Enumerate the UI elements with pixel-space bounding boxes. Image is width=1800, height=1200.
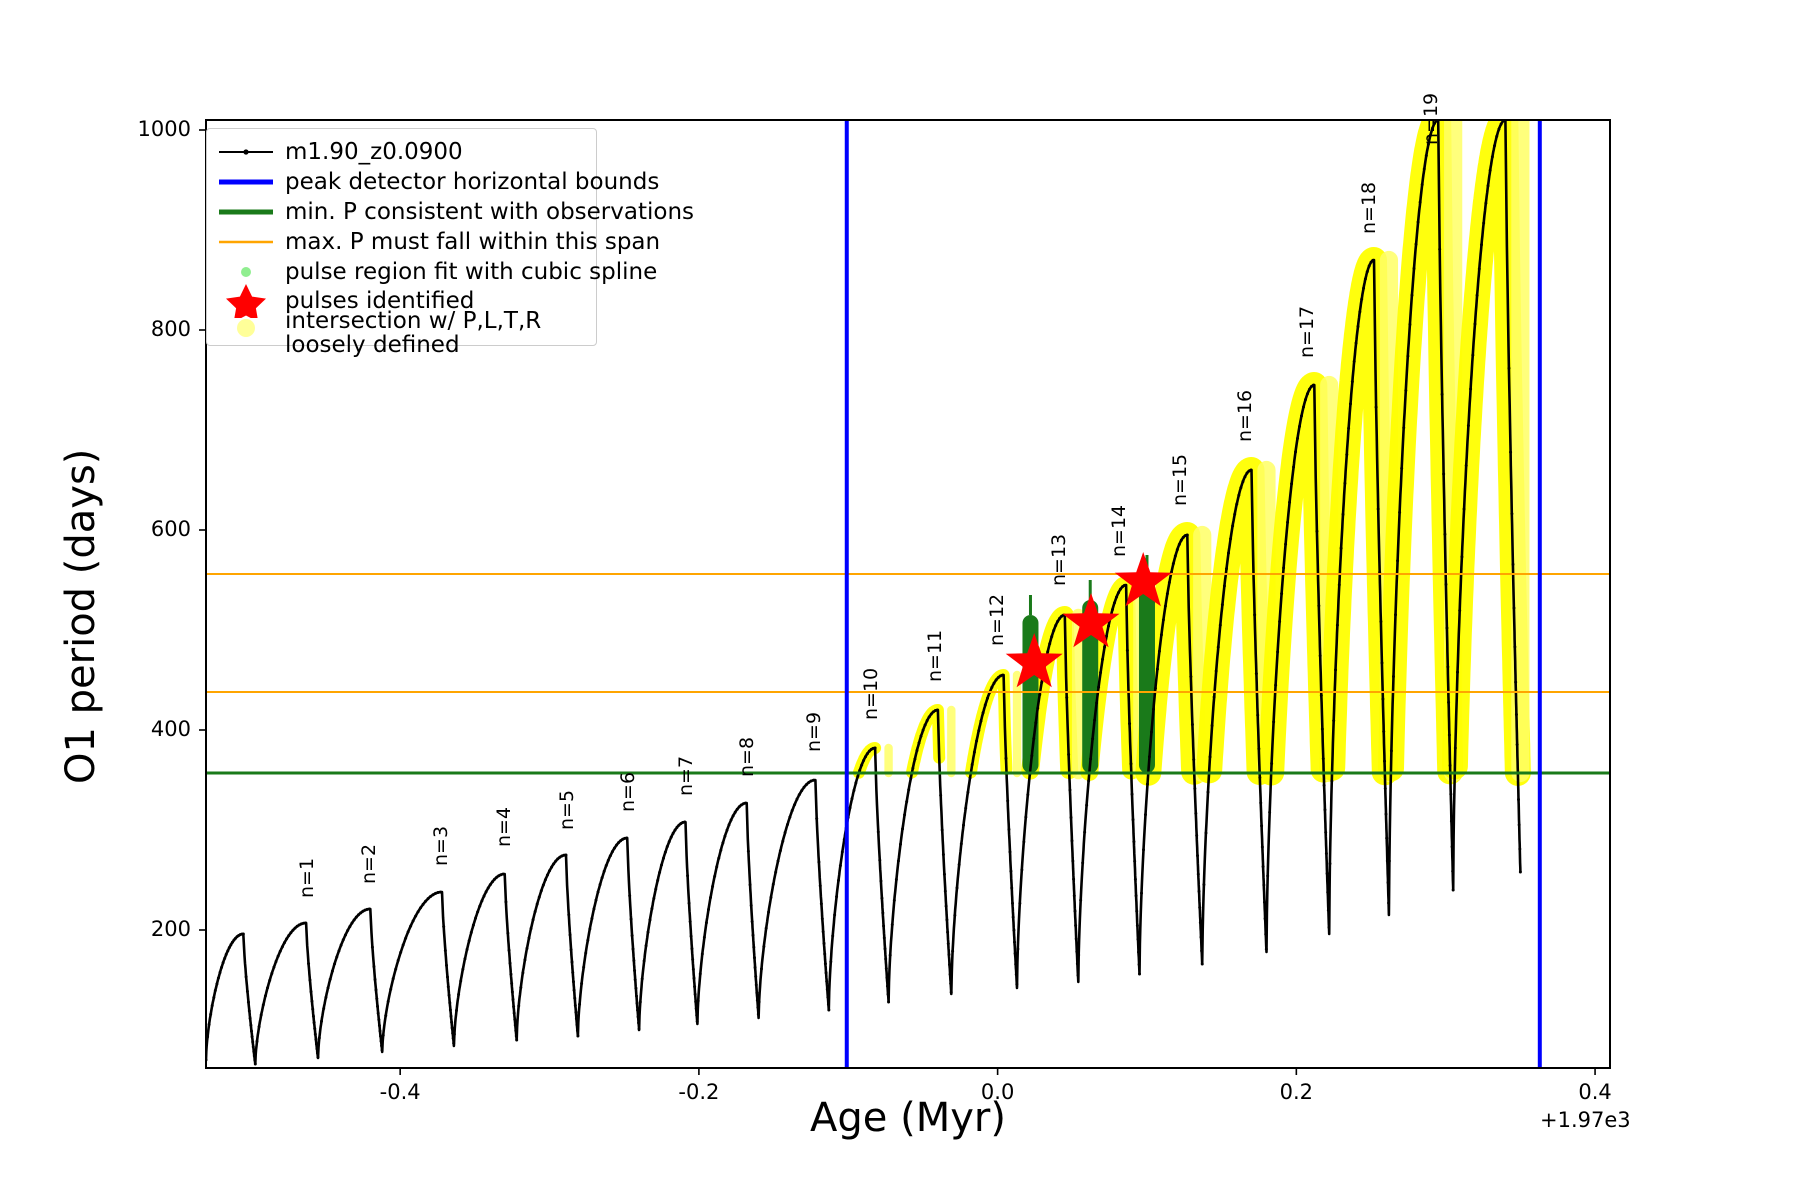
legend-item-min-period[interactable]: min. P consistent with observations [207, 195, 596, 229]
y-tick-label: 600 [111, 517, 191, 541]
legend-item-track[interactable]: m1.90_z0.0900 [207, 135, 596, 169]
x-tick-label: -0.4 [350, 1080, 450, 1104]
green-line-icon [217, 195, 275, 229]
legend[interactable]: m1.90_z0.0900 peak detector horizontal b… [206, 128, 597, 346]
x-tick-label: 0.4 [1545, 1080, 1645, 1104]
pulse-number-label: n=14 [1108, 505, 1130, 557]
x-axis-offset-text: +1.97e3 [1540, 1108, 1631, 1132]
pulse-number-label: n=7 [675, 756, 697, 796]
blue-line-icon [217, 165, 275, 199]
y-tick-label: 1000 [111, 117, 191, 141]
y-tick-label: 200 [111, 917, 191, 941]
legend-item-intersection[interactable]: intersection w/ P,L,T,R loosely defined [207, 305, 596, 355]
pulse-number-label: n=6 [617, 772, 639, 812]
legend-item-peak-bounds[interactable]: peak detector horizontal bounds [207, 165, 596, 199]
pulse-number-label: n=13 [1048, 534, 1070, 586]
yellow-blob-icon [217, 311, 275, 345]
pulse-number-label: n=1 [296, 858, 318, 898]
pulse-number-label: n=19 [1420, 93, 1442, 145]
pulse-number-label: n=18 [1358, 182, 1380, 234]
x-tick-label: -0.2 [649, 1080, 749, 1104]
pulse-number-label: n=5 [556, 790, 578, 830]
pulse-number-label: n=12 [986, 594, 1008, 646]
pulse-number-label: n=11 [924, 630, 946, 682]
pulse-number-label: n=16 [1234, 390, 1256, 442]
pulse-number-label: n=2 [358, 844, 380, 884]
pulse-number-label: n=9 [803, 712, 825, 752]
line-marker-icon [217, 135, 275, 169]
legend-label-min-period: min. P consistent with observations [285, 195, 694, 229]
pulse-number-label: n=8 [736, 737, 758, 777]
x-tick-label: 0.0 [948, 1080, 1048, 1104]
legend-label-peak-bounds: peak detector horizontal bounds [285, 165, 659, 199]
pulse-number-label: n=15 [1169, 454, 1191, 506]
legend-label-track: m1.90_z0.0900 [285, 135, 463, 169]
y-tick-label: 800 [111, 317, 191, 341]
pulse-number-label: n=10 [860, 668, 882, 720]
orange-line-icon [217, 225, 275, 259]
y-tick-label: 400 [111, 717, 191, 741]
x-tick-label: 0.2 [1246, 1080, 1346, 1104]
legend-label-intersection: intersection w/ P,L,T,R loosely defined [285, 309, 596, 357]
figure-canvas: O1 period (days) Age (Myr) +1.97e3 20040… [0, 0, 1800, 1200]
pulse-number-label: n=4 [493, 807, 515, 847]
y-axis-label: O1 period (days) [58, 449, 104, 784]
pulse-number-label: n=17 [1296, 306, 1318, 358]
pulse-number-label: n=3 [430, 826, 452, 866]
legend-item-max-span[interactable]: max. P must fall within this span [207, 225, 596, 259]
legend-label-max-span: max. P must fall within this span [285, 225, 660, 259]
